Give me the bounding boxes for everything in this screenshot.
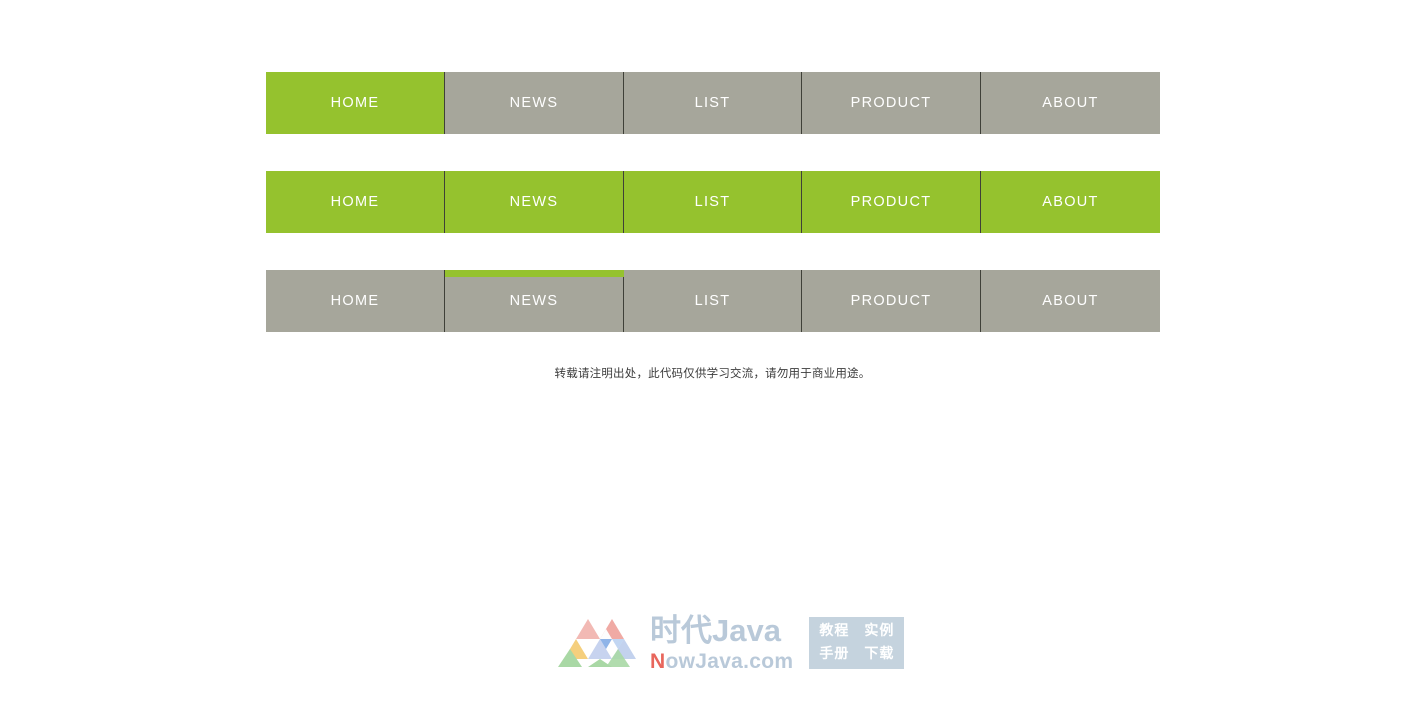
- nav-item-label: LIST: [695, 95, 731, 111]
- nav-item-home[interactable]: HOME: [266, 72, 445, 134]
- nav-item-label: ABOUT: [1042, 194, 1098, 210]
- badge-row-top: 教程 实例: [819, 620, 894, 643]
- nav-item-label: HOME: [331, 194, 380, 210]
- logo-badge[interactable]: 教程 实例 手册 下载: [809, 617, 904, 669]
- logo-wordmark: 时代Java NowJava.com: [650, 615, 793, 672]
- nav-item-list[interactable]: LIST: [624, 72, 802, 134]
- copyright-notice: 转载请注明出处，此代码仅供学习交流，请勿用于商业用途。: [0, 365, 1425, 381]
- nav-item-label: ABOUT: [1042, 95, 1098, 111]
- nav-item-about[interactable]: ABOUT: [981, 171, 1160, 233]
- nav-item-label: NEWS: [510, 194, 559, 210]
- nav-item-product[interactable]: PRODUCT: [802, 270, 981, 332]
- nav-item-product[interactable]: PRODUCT: [802, 72, 981, 134]
- badge-row-bottom: 手册 下载: [819, 643, 894, 666]
- nav-item-news[interactable]: NEWS: [445, 270, 624, 332]
- nav-item-home[interactable]: HOME: [266, 270, 445, 332]
- navbar-all-active: HOME NEWS LIST PRODUCT ABOUT: [266, 171, 1160, 233]
- site-logo[interactable]: 时代Java NowJava.com 教程 实例 手册 下载: [556, 612, 886, 674]
- navbar-demo-stage: HOME NEWS LIST PRODUCT ABOUT HOME NEWS L…: [266, 72, 1160, 369]
- nav-item-label: HOME: [331, 293, 380, 309]
- nav-item-about[interactable]: ABOUT: [981, 72, 1160, 134]
- nav-item-label: ABOUT: [1042, 293, 1098, 309]
- nav-item-label: PRODUCT: [851, 293, 932, 309]
- nav-item-list[interactable]: LIST: [624, 171, 802, 233]
- navbar-hover-indicator: HOME NEWS LIST PRODUCT ABOUT: [266, 270, 1160, 332]
- nav-item-label: NEWS: [510, 293, 559, 309]
- nav-item-news[interactable]: NEWS: [445, 72, 624, 134]
- logo-domain-text: NowJava.com: [650, 651, 793, 672]
- nav-item-label: LIST: [695, 293, 731, 309]
- nav-item-label: HOME: [331, 95, 380, 111]
- nav-item-label: PRODUCT: [851, 194, 932, 210]
- navbar-default: HOME NEWS LIST PRODUCT ABOUT: [266, 72, 1160, 134]
- nav-item-list[interactable]: LIST: [624, 270, 802, 332]
- logo-lat-chars: Java: [712, 613, 781, 648]
- logo-cn-text: 时代Java: [650, 615, 793, 647]
- nav-item-news[interactable]: NEWS: [445, 171, 624, 233]
- nav-item-label: PRODUCT: [851, 95, 932, 111]
- logo-domain-initial: N: [650, 650, 665, 673]
- triangle-mosaic-logo-icon: [556, 617, 648, 669]
- nav-item-label: NEWS: [510, 95, 559, 111]
- nav-item-about[interactable]: ABOUT: [981, 270, 1160, 332]
- nav-item-label: LIST: [695, 194, 731, 210]
- nav-item-home[interactable]: HOME: [266, 171, 445, 233]
- logo-cn-chars: 时代: [650, 613, 712, 649]
- nav-item-product[interactable]: PRODUCT: [802, 171, 981, 233]
- logo-domain-rest: owJava.com: [665, 650, 793, 673]
